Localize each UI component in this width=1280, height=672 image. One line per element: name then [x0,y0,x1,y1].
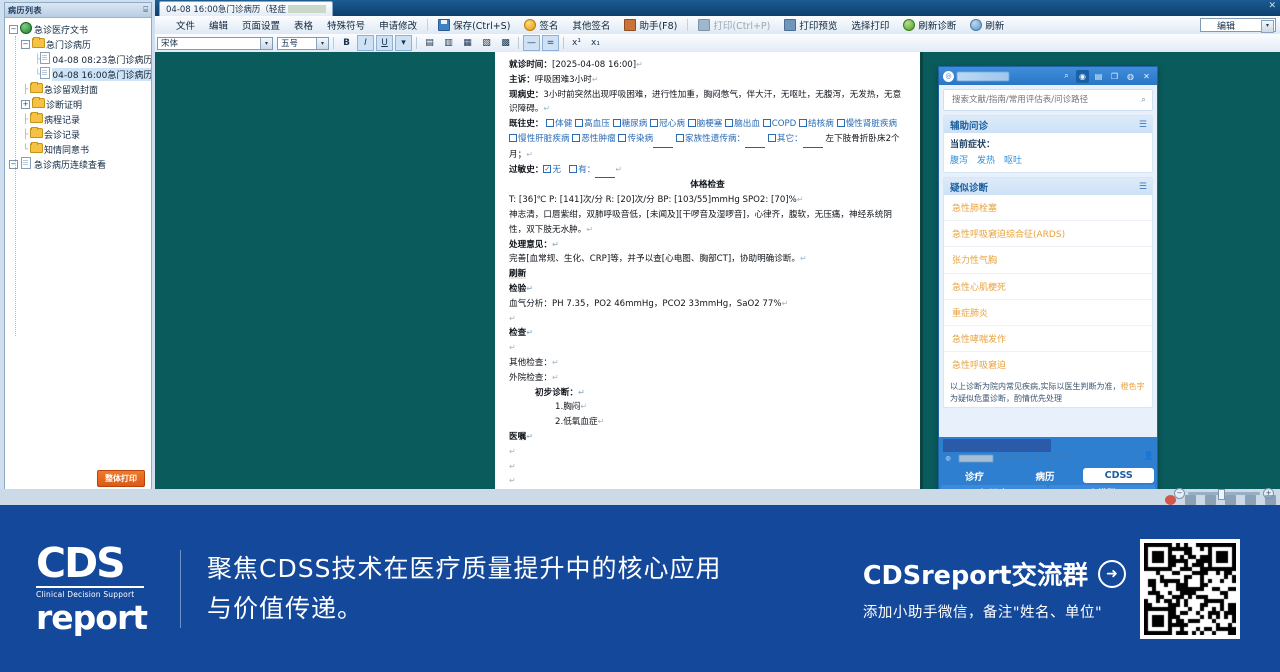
tree-node-label: 会诊记录 [44,128,80,141]
tree-node-record-0823[interactable]: ├ 04-08 08:23急门诊病历 [7,52,149,67]
diagnosis-list-item[interactable]: 急性呼吸窘迫综合征(ARDS) [944,221,1152,247]
tree-node-label: 04-08 08:23急门诊病历 [52,53,151,66]
chevron-down-icon[interactable]: ▾ [260,38,272,49]
single-line-button[interactable]: — [523,35,540,51]
field-value[interactable]: 血气分析：PH 7.35，PO2 46mmHg，PCO2 33mmHg，SaO2… [509,299,782,309]
pin-icon[interactable]: ⌸ [143,5,148,15]
menu-item-refresh-diagnosis[interactable]: 刷新诊断 [896,18,963,32]
paragraph-mark: ↵ [509,343,516,352]
checkbox-item: 传染病 [618,134,673,144]
subscript-button[interactable]: x₁ [587,35,604,51]
diagnosis-list-item[interactable]: 急性哮喘发作 [944,326,1152,352]
checkbox-item: COPD [763,119,797,129]
diagnosis-list-item[interactable]: 急性肺栓塞 [944,195,1152,221]
globe-icon [20,22,32,37]
field-label: 过敏史： [509,165,543,175]
search-icon[interactable]: ⌕ [1060,70,1073,83]
align-center-button[interactable]: ▥ [440,35,457,51]
menu-item-file[interactable]: 文件 [169,18,202,32]
font-size-dropdown[interactable]: 五号 ▾ [277,37,329,50]
tree-node-label: 病程记录 [44,113,80,126]
checkbox-label: 有： [578,165,595,175]
logo-bottom-text: report [36,601,144,635]
menu-item-other-sign[interactable]: 其他签名 [565,18,617,32]
keyboard-icon[interactable] [1185,495,1196,505]
inline-field[interactable] [745,132,765,148]
tree-branch-icon: └ [21,145,30,155]
version-link[interactable]: 版本号V250215 [1033,453,1086,463]
folder-icon [32,98,44,111]
paragraph-mark: ↵ [509,476,516,485]
book-icon[interactable]: ▤ [1092,70,1105,83]
menu-item-page-setup[interactable]: 页面设置 [235,18,287,32]
arrow-right-icon[interactable]: ➜ [1098,560,1126,588]
print-all-button[interactable]: 整体打印 [97,470,145,487]
format-toolbar: 宋体 ▾ 五号 ▾ B I U ▾ ▤ ▥ ▦ ▧ ▩ — [155,34,1280,53]
cdss-panel-header: ◎ ⌕ ◉ ▤ ❐ ◍ ✕ [939,67,1157,85]
brand-name-redacted [957,72,1009,81]
doc-diagnosis-item-1[interactable]: 1.胸闷↵ [509,400,906,415]
signature-icon [524,19,536,31]
document-tab[interactable]: 04-08 16:00急门诊病历（轻症 [159,1,333,16]
checkbox-label: 糖尿病 [622,119,648,129]
field-value[interactable]: 完善[血常规、生化、CRP]等，并予以查[心电图、胸部CT]，协助明确诊断。 [509,254,800,264]
menu-item-special-symbols[interactable]: 特殊符号 [320,18,372,32]
field-label: 检验 [509,284,526,294]
refresh-diagnosis-icon [903,19,915,31]
document-paper[interactable]: 就诊时间：[2025-04-08 16:00]↵ 主诉：呼吸困难3小时↵ 现病史… [495,52,920,493]
doc-line-physical-findings[interactable]: 神志清，口唇紫绀，双肺呼吸音低，[未闻及][干啰音及湿啰音]，心律齐，腹软，无压… [509,208,906,238]
checkbox-label: 慢性肾脏疾病 [846,119,898,129]
refresh-tag-label[interactable]: 刷新 [509,269,526,279]
banner-tagline: 聚焦CDSS技术在医疗质量提升中的核心应用 与价值传递。 [207,549,721,629]
field-label: 就诊时间： [509,60,552,70]
tagline-line-2: 与价值传递。 [207,589,721,629]
menu-label: 打印预览 [799,18,837,32]
promo-banner: CDS Clinical Decision Support report 聚焦C… [0,505,1280,672]
doc-line-plan-text[interactable]: 完善[血常规、生化、CRP]等，并予以查[心电图、胸部CT]，协助明确诊断。↵ [509,252,906,267]
tree-branch-icon: ├ [21,85,30,95]
font-family-value: 宋体 [161,37,178,49]
toolbar-separator [333,37,334,49]
brand-logo-icon: ◎ [943,453,953,463]
paragraph-mark: ↵ [797,195,804,204]
menu-item-print: 打印(Ctrl+P) [691,18,777,32]
disclaimer-link[interactable]: 免责声明 [999,453,1027,463]
tree-node-continuous-view[interactable]: − 急诊病历连续查看 [7,157,149,172]
symptom-chip[interactable]: 呕吐 [1004,153,1022,166]
menu-item-select-print[interactable]: 选择打印 [844,18,896,32]
paragraph-mark: ↵ [552,373,559,382]
ime-icon[interactable] [1245,495,1256,505]
chevron-down-icon[interactable]: ▾ [1261,20,1274,33]
checkbox-icon[interactable] [688,119,696,127]
doc-label-orders: 医嘱↵ [509,430,906,445]
doc-label-exam: 检查↵ [509,326,906,341]
doc-label-preliminary-diagnosis: 初步诊断：↵ [509,386,906,401]
checkbox-item: 糖尿病 [613,119,648,129]
screenshot-root: 病历列表 ⌸ − 急诊医疗文书 − 急门诊病历 ├ 04 [0,0,1280,672]
checkbox-icon[interactable] [799,119,807,127]
paragraph-mark: ↵ [509,462,516,471]
document-icon [40,52,50,67]
target-icon[interactable]: ◉ [1076,70,1089,83]
paragraph-mark: ↵ [543,104,550,113]
menu-item-request-modify[interactable]: 申请修改 [372,18,424,32]
menu-label: 助手(F8) [639,18,677,32]
tree-node-record-1600[interactable]: └ 04-08 16:00急门诊病历 [7,67,149,82]
tree-guide-line [15,36,17,336]
tree-node-informed-consent[interactable]: └ 知情同意书 [7,142,149,157]
field-value[interactable]: T: [36]℃ P: [141]次/分 R: [20]次/分 BP: [103… [509,195,797,205]
weather-icon[interactable] [1205,495,1216,505]
checkbox-icon[interactable] [650,119,658,127]
doc-line-visit-time[interactable]: 就诊时间：[2025-04-08 16:00]↵ [509,58,906,73]
menu-item-save[interactable]: 保存(Ctrl+S) [431,18,517,32]
paragraph-mark: ↵ [615,165,622,174]
doc-line-present-illness[interactable]: 现病史：3小时前突然出现呼吸困难，进行性加重，胸闷憋气，伴大汗，无呕吐，无腹泻，… [509,88,906,118]
sound-icon[interactable] [1225,495,1236,505]
menu-item-table[interactable]: 表格 [287,18,320,32]
tree-node-course-records[interactable]: ├ 病程记录 [7,112,149,127]
doc-line-vitals[interactable]: T: [36]℃ P: [141]次/分 R: [20]次/分 BP: [103… [509,193,906,208]
app-red-icon[interactable] [1165,495,1176,505]
cdss-search-box[interactable]: ⌕ [943,89,1153,111]
checkbox-item: 慢性肾脏疾病 [837,119,898,129]
field-label: 既往史： [509,119,543,129]
tagline-line-1: 聚焦CDSS技术在医疗质量提升中的核心应用 [207,549,721,589]
paragraph-mark: ↵ [526,432,533,441]
checkbox-label: 脑梗塞 [697,119,723,129]
globe-icon[interactable]: ◍ [1124,70,1137,83]
tree-branch-icon: ├ [21,115,30,125]
menu-label: 页面设置 [242,18,280,32]
menu-item-edit[interactable]: 编辑 [202,18,235,32]
cdss-primary-tabs: 诊疗 病历 CDSS [939,466,1157,485]
checkbox-item: 体健 [546,119,572,129]
tree-panel-title: 病历列表 [8,5,143,16]
checkbox-item: 脑梗塞 [688,119,723,129]
field-value[interactable]: 3小时前突然出现呼吸困难，进行性加重，胸闷憋气，伴大汗，无呕吐，无腹泻，无发热，… [509,90,901,115]
bold-button[interactable]: B [338,35,355,51]
paragraph-mark: ↵ [636,60,643,69]
checkbox-label: 体健 [555,119,572,129]
menu-label: 表格 [294,18,313,32]
checkbox-label: 恶性肿瘤 [581,134,615,144]
doc-blank-1: ↵ [509,312,906,327]
menu-item-refresh[interactable]: 刷新 [963,18,1011,32]
tree-node-label: 急诊医疗文书 [34,23,88,36]
font-family-dropdown[interactable]: 宋体 ▾ [157,37,273,50]
checkbox-icon[interactable] [546,119,554,127]
inline-field[interactable] [653,132,673,148]
underline-button[interactable]: U [376,35,393,51]
doc-section-physical-exam-title: 体格检查 [509,178,906,193]
menu-label: 打印(Ctrl+P) [713,18,770,32]
network-icon[interactable] [1265,495,1276,505]
checkbox-item: 结核病 [799,119,834,129]
menu-label: 文件 [176,18,195,32]
doc-refresh-tag[interactable]: 刷新 [509,267,906,282]
checkbox-icon[interactable] [572,134,580,142]
field-value[interactable]: 呼吸困难3小时 [535,75,592,85]
checkbox-icon[interactable] [613,119,621,127]
paragraph-mark: ↵ [526,328,533,337]
symptom-chip[interactable]: 腹泻 [950,153,968,166]
field-value[interactable]: [2025-04-08 16:00] [552,60,636,70]
checkbox-label: 家族性遗传病： [685,134,745,144]
diagnosis-list-item[interactable]: 急性呼吸窘迫 [944,352,1152,377]
checkbox-label: 无 [552,165,561,175]
cta-title-row: CDSreport交流群 ➜ [863,555,1126,592]
field-label: 其他检查： [509,358,552,368]
checkbox-icon[interactable] [768,134,776,142]
paragraph-mark: ↵ [598,417,605,426]
checkbox-icon[interactable] [569,165,577,173]
cta-subtitle: 添加小助手微信，备注"姓名、单位" [863,601,1126,622]
list-icon[interactable]: ☰ [1139,182,1146,192]
folder-icon [30,128,42,141]
disclaimer-highlight: 橙色字 [1121,382,1145,391]
tree-body[interactable]: − 急诊医疗文书 − 急门诊病历 ├ 04-08 08:23急门诊病历 └ [5,18,151,501]
document-tab-bar: 04-08 16:00急门诊病历（轻症 ✕ [155,0,1280,16]
redacted-block [943,439,1051,452]
chevron-down-icon[interactable]: ▾ [316,38,328,49]
doc-blank-2: ↵ [509,341,906,356]
cds-report-logo: CDS Clinical Decision Support report [36,543,144,635]
menu-item-assistant[interactable]: 助手(F8) [617,18,684,32]
tree-node-label: 知情同意书 [44,143,89,156]
symptom-list: 腹泻 发热 呕吐 [950,153,1146,166]
current-symptoms-label: 当前症状： [950,137,1146,150]
menu-separator [427,19,428,31]
paragraph-mark: ↵ [592,75,599,84]
checkbox-item: 高血压 [575,119,610,129]
diagnosis-list-item[interactable]: 急性心肌梗死 [944,274,1152,300]
double-line-button[interactable]: = [542,35,559,51]
tree-node-label: 诊断证明 [46,98,82,111]
cdss-panel: ◎ ⌕ ◉ ▤ ❐ ◍ ✕ ⌕ 辅助问诊 ☰ [938,66,1158,503]
medical-record-tree-panel: 病历列表 ⌸ − 急诊医疗文书 − 急门诊病历 ├ 04 [4,2,152,502]
tree-panel-header: 病历列表 ⌸ [5,3,151,18]
disclaimer-part-1: 以上诊断为院内常见疾病,实际以医生判断为准， [950,382,1121,391]
menu-item-sign[interactable]: 签名 [517,18,565,32]
field-label: 处理意见： [509,240,552,250]
field-label: 主诉： [509,75,535,85]
checkbox-label: 传染病 [627,134,653,144]
doc-blank-3: ↵ [509,445,906,460]
user-avatar-icon[interactable]: 👤 [1142,449,1155,462]
cta-title: CDSreport交流群 [863,555,1088,592]
assist-card-header: 辅助问诊 ☰ [944,116,1152,133]
save-icon [438,19,450,31]
tab-treatment[interactable]: 诊疗 [939,466,1010,485]
align-right-button[interactable]: ▦ [459,35,476,51]
tree-node-emergency-documents[interactable]: − 急诊医疗文书 [7,22,149,37]
justify-button[interactable]: ▧ [478,35,495,51]
qr-code-icon [1140,539,1240,639]
doc-line-past-history[interactable]: 既往史： 体健 高血压 糖尿病 冠心病 脑梗塞 脑出血 COPD 结核病 慢性肾… [509,117,906,162]
doc-label-lab: 检验↵ [509,282,906,297]
diagnosis-list[interactable]: 急性肺栓塞 急性呼吸窘迫综合征(ARDS) 张力性气胸 急性心肌梗死 重症肺炎 … [944,195,1152,377]
expander-icon[interactable]: + [21,100,30,109]
field-label: 检查 [509,328,526,338]
paragraph-mark: ↵ [509,314,516,323]
doc-diagnosis-item-2[interactable]: 2.低氧血症↵ [509,415,906,430]
checkbox-icon[interactable] [837,119,845,127]
checkbox-label: 高血压 [584,119,610,129]
superscript-button[interactable]: x¹ [568,35,585,51]
diagnosis-list-item[interactable]: 张力性气胸 [944,247,1152,273]
doc-blank-4: ↵ [509,460,906,475]
diagnosis-card-header: 疑似诊断 ☰ [944,178,1152,195]
document-icon [20,157,32,172]
symptom-chip[interactable]: 发热 [977,153,995,166]
tab-medical-record[interactable]: 病历 [1010,466,1081,485]
print-preview-icon [784,19,796,31]
tree-branch-icon: ├ [21,130,30,140]
cdss-brand: ◎ [943,71,1057,82]
suspected-diagnosis-card: 疑似诊断 ☰ 急性肺栓塞 急性呼吸窘迫综合征(ARDS) 张力性气胸 急性心肌梗… [943,177,1153,408]
folder-icon [32,38,44,51]
paragraph-mark: ↵ [800,254,807,263]
document-menu-bar: 文件 编辑 页面设置 表格 特殊符号 申请修改 保存(Ctrl+S) 签名 其他… [155,16,1280,35]
tree-node-outpatient-records[interactable]: − 急门诊病历 [7,37,149,52]
diagnosis-card-title: 疑似诊断 [950,180,1139,194]
diagnosis-text[interactable]: 2.低氧血症 [555,417,598,427]
tree-node-observation-cover[interactable]: ├ 急诊留观封面 [7,82,149,97]
search-icon[interactable]: ⌕ [1141,95,1146,105]
doc-line-lab-text[interactable]: 血气分析：PH 7.35，PO2 46mmHg，PCO2 33mmHg，SaO2… [509,297,906,312]
field-value[interactable]: 神志清，口唇紫绀，双肺呼吸音低，[未闻及][干啰音及湿啰音]，心律齐，腹软，无压… [509,210,892,235]
diagnosis-list-item[interactable]: 重症肺炎 [944,300,1152,326]
doc-line-chief-complaint[interactable]: 主诉：呼吸困难3小时↵ [509,73,906,88]
search-input[interactable] [950,94,1141,106]
redacted-block [288,5,326,13]
cdss-panel-body: ⌕ 辅助问诊 ☰ 当前症状： 腹泻 发热 呕吐 [939,85,1157,437]
diagnosis-text[interactable]: 1.胸闷 [555,402,580,412]
menu-label: 刷新诊断 [918,18,956,32]
checkbox-icon[interactable] [725,119,733,127]
paragraph-mark: ↵ [526,150,533,159]
doc-label-plan: 处理意见：↵ [509,238,906,253]
copy-icon[interactable]: ❐ [1108,70,1121,83]
edit-mode-dropdown[interactable]: 编辑 ▾ [1200,18,1276,32]
expander-icon[interactable]: − [21,40,30,49]
close-icon[interactable]: ✕ [1140,70,1153,83]
checkbox-icon[interactable] [618,134,626,142]
menu-separator [687,19,688,31]
checkbox-icon[interactable] [676,134,684,142]
menu-label: 签名 [539,18,558,32]
document-icon [40,67,50,82]
field-label: 现病史： [509,90,543,100]
checkbox-icon-checked[interactable] [543,165,551,173]
menu-label: 其他签名 [572,18,610,32]
os-taskbar-strip: − + [0,489,1280,505]
banner-divider [180,550,181,628]
folder-icon [30,143,42,156]
tree-node-label: 急诊留观封面 [44,83,98,96]
expander-icon[interactable]: − [9,25,18,34]
paragraph-mark: ↵ [580,402,587,411]
checkbox-item: 冠心病 [650,119,685,129]
paragraph-mark: ↵ [782,299,789,308]
font-size-value: 五号 [281,37,298,49]
paper-shadow [920,52,923,493]
checkbox-icon[interactable] [509,134,517,142]
toolbar-separator [416,37,417,49]
folder-icon [30,83,42,96]
tree-node-label: 04-08 16:00急门诊病历 [52,68,151,81]
tree-node-diagnosis-certificate[interactable]: + 诊断证明 [7,97,149,112]
list-icon[interactable]: ☰ [1139,120,1146,130]
document-tab-label: 04-08 16:00急门诊病历（轻症 [166,3,286,15]
emr-application: 病历列表 ⌸ − 急诊医疗文书 − 急门诊病历 ├ 04 [0,0,1280,505]
checkbox-label: COPD [772,119,797,129]
doc-line-allergy[interactable]: 过敏史：无 有： ↵ [509,163,906,179]
checkbox-icon[interactable] [763,119,771,127]
tab-cdss[interactable]: CDSS [1083,468,1154,483]
field-label: 外院检查： [509,373,552,383]
underline-style-dropdown[interactable]: ▾ [395,35,412,51]
checkbox-item: 慢性肝脏疾病 [509,134,570,144]
diagnosis-disclaimer: 以上诊断为院内常见疾病,实际以医生判断为准，橙色字为疑似危重诊断，酌情优先处理 [944,377,1152,407]
system-tray [1165,495,1276,505]
paragraph-mark: ↵ [552,240,559,249]
menu-label: 特殊符号 [327,18,365,32]
menu-label: 申请修改 [379,18,417,32]
insert-table-button[interactable]: ▩ [497,35,514,51]
inline-field[interactable] [595,163,615,179]
folder-icon [30,113,42,126]
doc-line-other-exam[interactable]: 其他检查：↵ [509,356,906,371]
close-icon[interactable]: ✕ [1268,1,1276,11]
paragraph-mark: ↵ [526,284,533,293]
italic-button[interactable]: I [357,35,374,51]
toolbar-separator [518,37,519,49]
checkbox-icon[interactable] [575,119,583,127]
brand-logo-icon: ◎ [943,71,954,82]
paragraph-mark: ↵ [552,358,559,367]
toolbar-separator [563,37,564,49]
checkbox-item: 家族性遗传病： [676,134,765,144]
logo-main-text: CDS [36,543,144,583]
checkbox-label: 结核病 [808,119,834,129]
align-left-button[interactable]: ▤ [421,35,438,51]
doc-blank-5: ↵ [509,474,906,489]
paragraph-mark: ↵ [578,388,585,397]
checkbox-label: 冠心病 [659,119,685,129]
inline-field[interactable] [803,132,823,148]
doc-line-outside-exam[interactable]: 外院检查：↵ [509,371,906,386]
brand-name-redacted [959,455,993,462]
print-icon [698,19,710,31]
tree-node-consultation-records[interactable]: ├ 会诊记录 [7,127,149,142]
menu-label: 编辑 [209,18,228,32]
checkbox-item: 其它： [768,134,823,144]
edit-mode-value: 编辑 [1217,19,1235,32]
checkbox-label: 慢性肝脏疾病 [518,134,570,144]
disclaimer-part-2: 为疑似危重诊断，酌情优先处理 [950,394,1062,403]
tree-node-label: 急诊病历连续查看 [34,158,106,171]
tree-node-label: 急门诊病历 [46,38,91,51]
menu-item-print-preview[interactable]: 打印预览 [777,18,844,32]
assist-interview-card: 辅助问诊 ☰ 当前症状： 腹泻 发热 呕吐 [943,115,1153,173]
checkbox-label: 脑出血 [734,119,760,129]
allergy-checkbox-group[interactable]: 无 有： [543,165,615,175]
refresh-icon [970,19,982,31]
